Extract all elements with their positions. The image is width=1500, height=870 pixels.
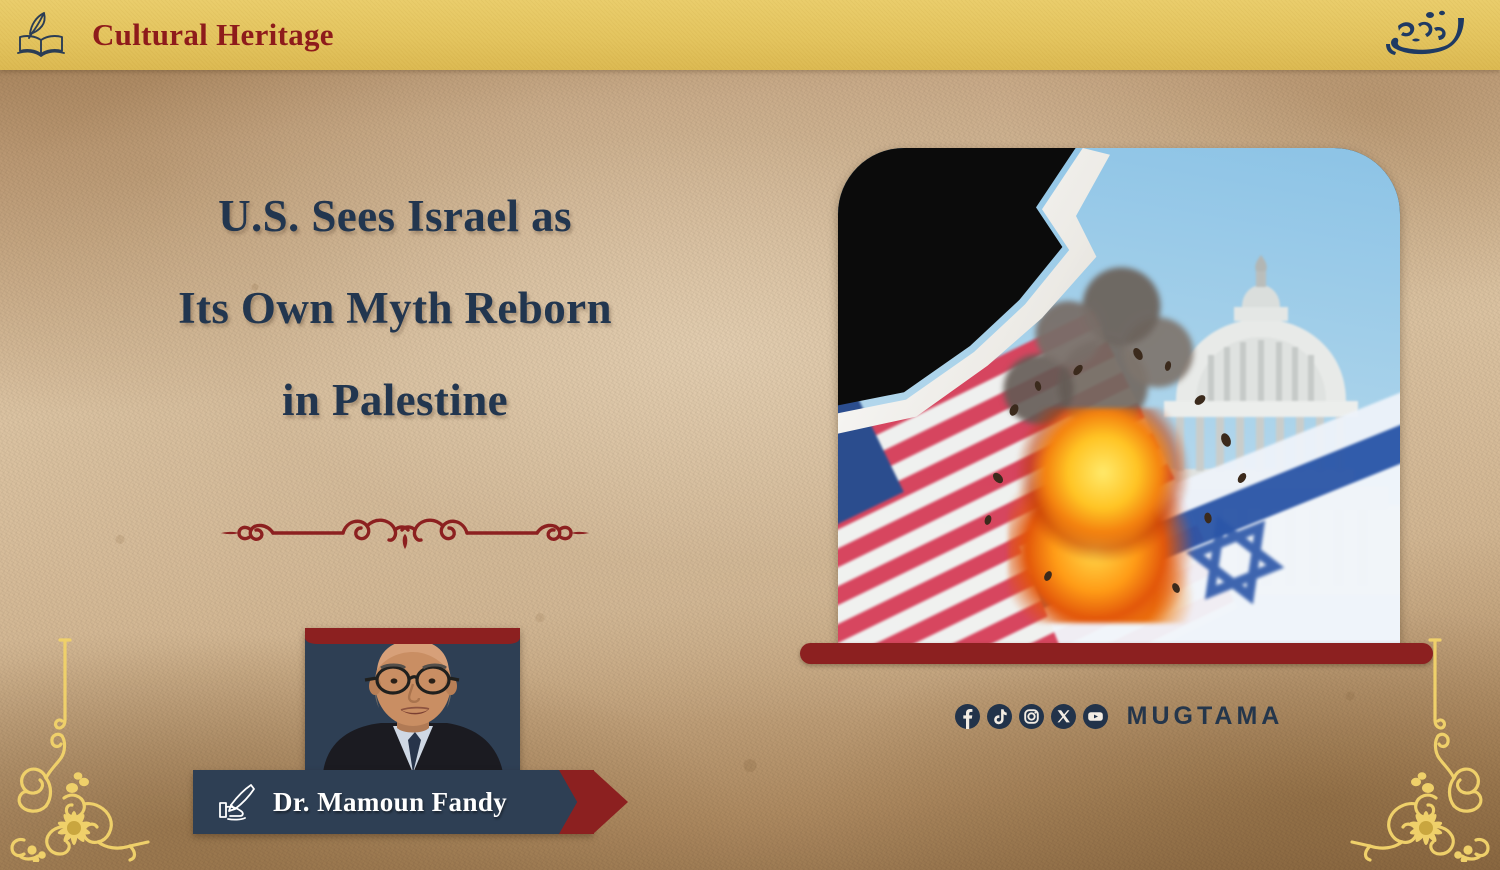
author-name: Dr. Mamoun Fandy xyxy=(273,787,507,818)
portrait-top-accent xyxy=(305,628,520,644)
headline-line-2: Its Own Myth Reborn xyxy=(0,262,790,354)
photo-underbar-accent xyxy=(800,643,1433,664)
tiktok-icon[interactable] xyxy=(987,704,1012,729)
headline-line-3: in Palestine xyxy=(0,354,790,446)
author-banner: Dr. Mamoun Fandy xyxy=(193,770,593,834)
social-media-bar: MUGTAMA xyxy=(838,698,1400,734)
headline: U.S. Sees Israel as Its Own Myth Reborn … xyxy=(0,170,790,446)
quill-book-icon xyxy=(14,9,70,61)
youtube-icon[interactable] xyxy=(1083,704,1108,729)
article-hero-image xyxy=(838,148,1400,645)
corner-ornament-right xyxy=(1348,632,1498,862)
ornamental-flourish-divider xyxy=(195,510,615,556)
poster-canvas: Cultural Heritage U.S. Sees Israel as It… xyxy=(0,0,1500,870)
facebook-icon[interactable] xyxy=(955,704,980,729)
avatar xyxy=(305,628,520,773)
mugtama-arabic-logo xyxy=(1368,4,1478,66)
x-twitter-icon[interactable] xyxy=(1051,704,1076,729)
instagram-icon[interactable] xyxy=(1019,704,1044,729)
header-bar: Cultural Heritage xyxy=(0,0,1500,70)
brand-name: MUGTAMA xyxy=(1127,702,1284,731)
corner-ornament-left xyxy=(2,632,152,862)
page-title: Cultural Heritage xyxy=(92,17,334,53)
headline-line-1: U.S. Sees Israel as xyxy=(0,170,790,262)
writing-hand-icon xyxy=(215,781,257,823)
author-portrait-photo xyxy=(305,628,520,773)
